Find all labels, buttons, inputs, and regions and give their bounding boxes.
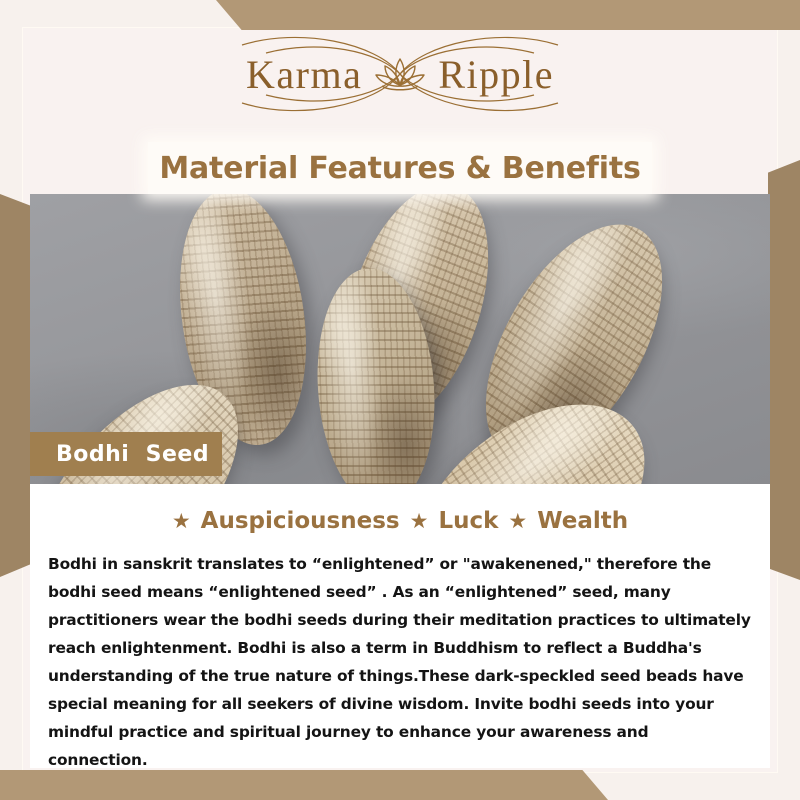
benefit-wealth: Wealth	[537, 508, 628, 534]
star-icon-1: ★	[172, 511, 191, 532]
bottom-frame-band	[0, 770, 800, 800]
brand-name-right: Ripple	[436, 51, 556, 98]
benefit-auspiciousness: Auspiciousness	[201, 508, 400, 534]
brand-logo: Karma Ripple	[0, 28, 800, 120]
benefit-luck: Luck	[438, 508, 498, 534]
star-icon-2: ★	[410, 511, 429, 532]
infographic-page: Karma Ripple	[0, 0, 800, 800]
seed-name-label: Bodhi Seed	[56, 442, 209, 467]
left-frame-band	[0, 194, 32, 577]
seed-name-tab: Bodhi Seed	[30, 432, 222, 476]
bodhi-seeds-photo: Bodhi Seed	[30, 194, 770, 484]
description-card: ★ Auspiciousness ★ Luck ★ Wealth Bodhi i…	[30, 484, 770, 768]
top-frame-band	[0, 0, 800, 30]
section-title-banner: Material Features & Benefits	[148, 142, 652, 194]
description-paragraph: Bodhi in sanskrit translates to “enlight…	[42, 550, 758, 774]
benefits-headline: ★ Auspiciousness ★ Luck ★ Wealth	[30, 508, 770, 534]
brand-name-left: Karma	[244, 51, 364, 98]
star-icon-3: ★	[508, 511, 527, 532]
page-title: Material Features & Benefits	[159, 151, 640, 186]
right-frame-band	[768, 160, 800, 580]
lotus-icon	[372, 53, 428, 95]
